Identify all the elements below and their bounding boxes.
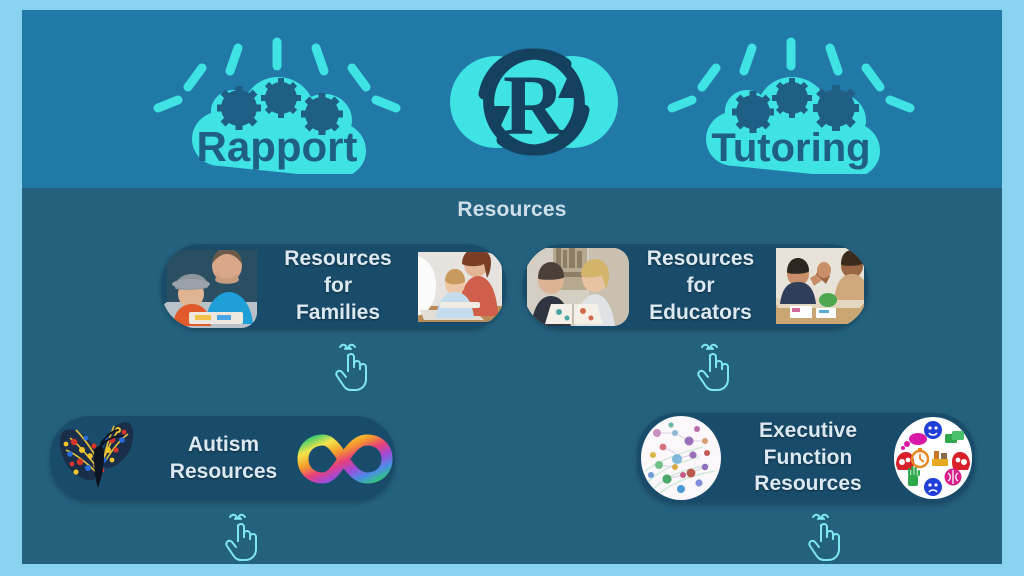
tap-hand-icon (222, 513, 264, 563)
page-title: Resources (22, 198, 1002, 222)
slide-frame: Rapport R (0, 0, 1024, 576)
rapport-logo[interactable]: Rapport (150, 34, 404, 174)
tutoring-logo[interactable]: Tutoring (664, 34, 918, 174)
tap-hand-icon (805, 513, 847, 563)
card-label: Resources for Families (266, 246, 410, 327)
header-band: Rapport R (22, 10, 1002, 188)
content-band: Resources (22, 188, 1002, 564)
mosaic-butterfly-image (50, 416, 152, 501)
mind-map-network-image (637, 413, 725, 503)
rapport-logo-label: Rapport (197, 123, 358, 170)
mother-and-child-at-laptop-photo (410, 244, 506, 329)
tutoring-logo-label: Tutoring (711, 126, 870, 170)
r-cycle-logo-label: R (503, 57, 566, 153)
teacher-and-student-high-five-photo (772, 244, 868, 329)
card-resources-for-families[interactable]: Resources for Families (161, 244, 506, 329)
father-and-child-reading-photo (161, 244, 266, 329)
tap-hand-icon (694, 343, 736, 393)
two-people-reading-book-photo (523, 244, 629, 329)
card-executive-function-resources[interactable]: Executive Function Resources (637, 413, 975, 503)
card-label: Autism Resources (152, 432, 295, 486)
emotion-icons-circle-image (891, 413, 975, 503)
card-resources-for-educators[interactable]: Resources for Educators (523, 244, 868, 329)
card-label: Resources for Educators (629, 246, 772, 327)
rainbow-infinity-symbol-image (295, 416, 395, 501)
card-autism-resources[interactable]: Autism Resources (50, 416, 395, 501)
tap-hand-icon (332, 343, 374, 393)
r-cycle-logo[interactable]: R (434, 34, 634, 170)
card-label: Executive Function Resources (725, 418, 891, 499)
